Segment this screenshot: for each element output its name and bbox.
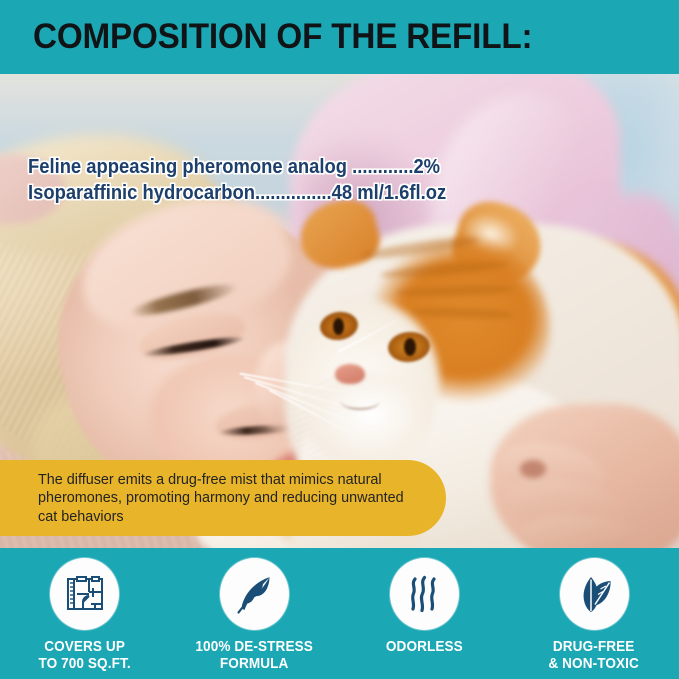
feature-label-line1: COVERS UP [44,639,125,655]
cat-pupil-right [404,338,416,356]
feature-icon-circle [50,558,119,630]
cat-nose [335,364,365,384]
feature-label-line1: DRUG-FREE [553,639,635,655]
feature-label-destress: 100% DE-STRESS FORMULA [196,639,313,673]
leaves-icon [572,572,616,616]
description-callout: The diffuser emits a drug-free mist that… [0,460,446,536]
feature-destress: 100% DE-STRESS FORMULA [176,558,334,673]
header-band: COMPOSITION OF THE REFILL: [0,0,679,74]
composition-line-2: Isoparaffinic hydrocarbon...............… [28,180,446,206]
feature-label-line1: ODORLESS [386,639,463,655]
feature-label-line1: 100% DE-STRESS [196,639,313,655]
feature-drug-free: DRUG-FREE & NON-TOXIC [515,558,673,673]
floor-plan-icon [63,572,107,616]
feature-odorless: ODORLESS [345,558,503,656]
composition-text: Feline appeasing pheromone analog ......… [28,154,446,206]
page-title: COMPOSITION OF THE REFILL: [33,17,532,57]
feature-coverage: COVERS UP TO 700 SQ.FT. [6,558,164,673]
composition-line-1: Feline appeasing pheromone analog ......… [28,154,446,180]
woman-fingernail [520,460,546,478]
feature-icon-circle [390,558,459,630]
feature-icon-circle [220,558,289,630]
feature-band: COVERS UP TO 700 SQ.FT. 100% DE-STRESS F… [0,548,679,679]
feature-label-odorless: ODORLESS [386,639,463,656]
cat-pupil-left [333,318,344,335]
description-text: The diffuser emits a drug-free mist that… [38,471,412,527]
feature-label-drug-free: DRUG-FREE & NON-TOXIC [549,639,640,673]
feature-label-line2: TO 700 SQ.FT. [39,656,131,673]
feature-label-line2: & NON-TOXIC [549,656,640,673]
feature-label-line2: FORMULA [196,656,313,673]
product-infographic: COMPOSITION OF THE REFILL: [0,0,679,679]
feature-icon-circle [560,558,629,630]
vapor-waves-icon [402,572,446,616]
feature-label-coverage: COVERS UP TO 700 SQ.FT. [39,639,131,673]
feather-icon [233,572,277,616]
